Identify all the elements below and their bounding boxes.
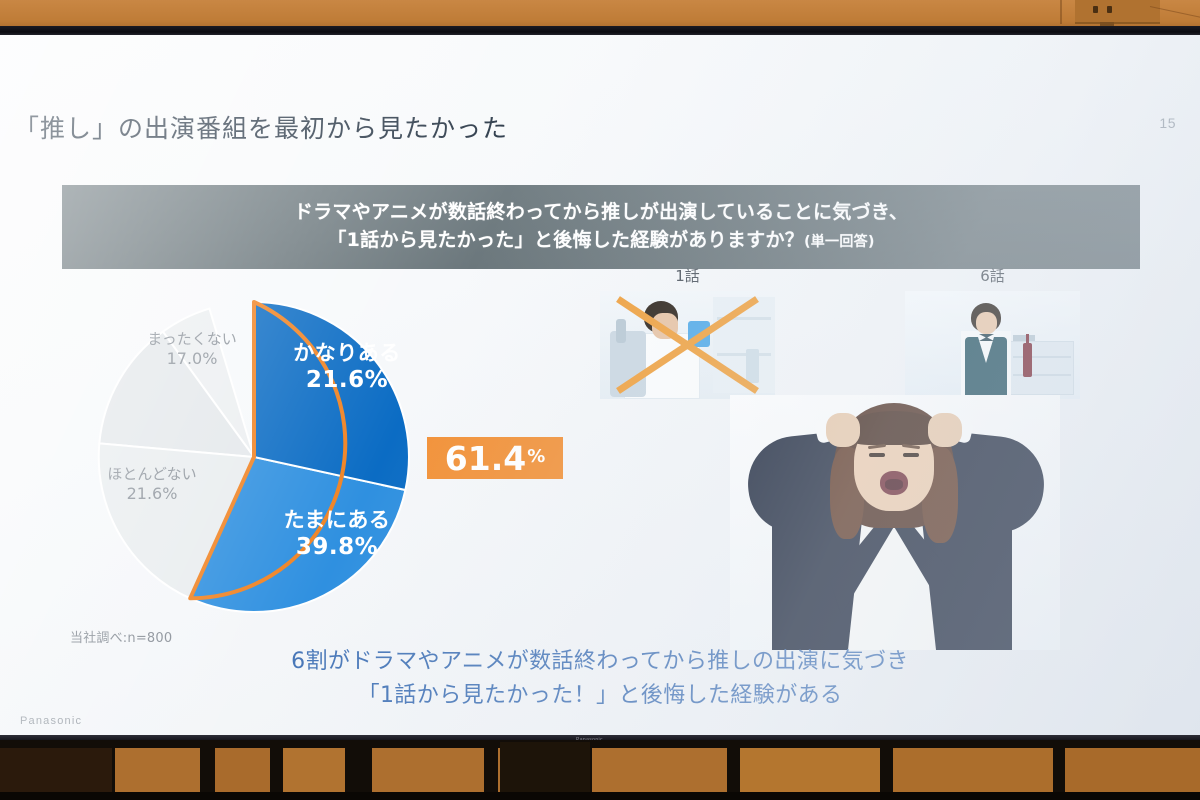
highlight-badge-unit: % xyxy=(527,448,545,468)
room-floor-ledge xyxy=(0,792,1200,800)
summary-text: 6割がドラマやアニメが数話終わってから推しの出演に気づき 「1話から見たかった！… xyxy=(0,645,1200,713)
pie-label-tamani-value: 39.8% xyxy=(242,533,432,562)
lab-person-face xyxy=(652,313,678,339)
question-line-2: 「1話から見たかった」と後悔した経験がありますか？(単一回答) xyxy=(327,227,874,255)
summary-line-1: 6割がドラマやアニメが数話終わってから推しの出演に気づき xyxy=(291,645,909,679)
lab-blue-equipment xyxy=(688,321,710,347)
brand-logo: Panasonic xyxy=(20,715,82,727)
waiter-tap xyxy=(1013,335,1035,341)
wine-bottle-icon xyxy=(1023,343,1032,377)
pie-label-mattaku-value: 17.0% xyxy=(112,349,272,369)
waiter-face xyxy=(976,312,997,334)
summary-line-2: 「1話から見たかった！」と後悔した経験がある xyxy=(358,679,843,713)
episode-6-image xyxy=(905,291,1080,399)
pie-chart-area: かなりある 21.6% たまにある 39.8% まったくない 17.0% ほとん… xyxy=(60,280,560,650)
pie-label-hotondo-name: ほとんどない xyxy=(72,465,232,484)
pie-slice-kanari xyxy=(254,302,409,490)
question-line-1: ドラマやアニメが数話終わってから推しが出演していることに気づき、 xyxy=(294,199,908,227)
pie-label-mattaku-name: まったくない xyxy=(112,330,272,349)
pie-label-kanari: かなりある 21.6% xyxy=(257,340,437,395)
page-title: 「推し」の出演番組を最初から見たかった xyxy=(14,109,508,145)
pie-chart: かなりある 21.6% たまにある 39.8% まったくない 17.0% ほとん… xyxy=(82,285,442,635)
question-line-2-main: 「1話から見たかった」と後悔した経験がありますか？ xyxy=(327,229,804,251)
reaction-mouth-inner xyxy=(885,479,903,490)
lab-bottle xyxy=(746,349,759,383)
pie-label-mattaku: まったくない 17.0% xyxy=(112,330,272,369)
episode-6-thumbnail-block: 6話 xyxy=(905,265,1080,399)
room-environment: 「推し」の出演番組を最初から見たかった 15 ドラマやアニメが数話終わってから推… xyxy=(0,0,1200,800)
reaction-hand-left xyxy=(826,413,860,447)
wall-seam xyxy=(1060,0,1062,24)
pie-label-hotondo: ほとんどない 21.6% xyxy=(72,465,232,504)
source-note: 当社調べ:n=800 xyxy=(70,627,172,646)
reaction-eye-right xyxy=(903,453,919,457)
display-screen: 「推し」の出演番組を最初から見たかった 15 ドラマやアニメが数話終わってから推… xyxy=(0,35,1200,736)
pie-label-hotondo-value: 21.6% xyxy=(72,484,232,504)
episode-6-caption: 6話 xyxy=(905,265,1080,286)
reaction-fringe xyxy=(848,411,940,445)
question-answer-type: (単一回答) xyxy=(804,234,875,250)
episode-1-caption: 1話 xyxy=(600,265,775,286)
question-banner: ドラマやアニメが数話終わってから推しが出演していることに気づき、 「1話から見た… xyxy=(62,185,1140,269)
waiter-cabinet xyxy=(1008,341,1074,395)
reaction-photo xyxy=(730,395,1060,650)
ceiling-mount-bracket xyxy=(1075,0,1160,24)
lab-shelf xyxy=(713,297,775,393)
episode-1-thumbnail-block: 1話 xyxy=(600,265,775,399)
pie-label-kanari-value: 21.6% xyxy=(257,366,437,395)
pie-label-tamani: たまにある 39.8% xyxy=(242,507,432,562)
episode-1-image xyxy=(600,291,775,399)
pie-label-kanari-name: かなりある xyxy=(257,340,437,366)
highlight-badge-value: 61.4 xyxy=(445,442,526,475)
microscope-icon xyxy=(610,331,646,397)
page-number: 15 xyxy=(1159,115,1176,131)
reaction-hand-right xyxy=(928,413,962,447)
reaction-eye-left xyxy=(869,453,885,457)
pie-label-tamani-name: たまにある xyxy=(242,507,432,533)
media-area: 1話 6話 xyxy=(580,265,1180,665)
highlight-badge: 61.4 % xyxy=(427,437,563,479)
